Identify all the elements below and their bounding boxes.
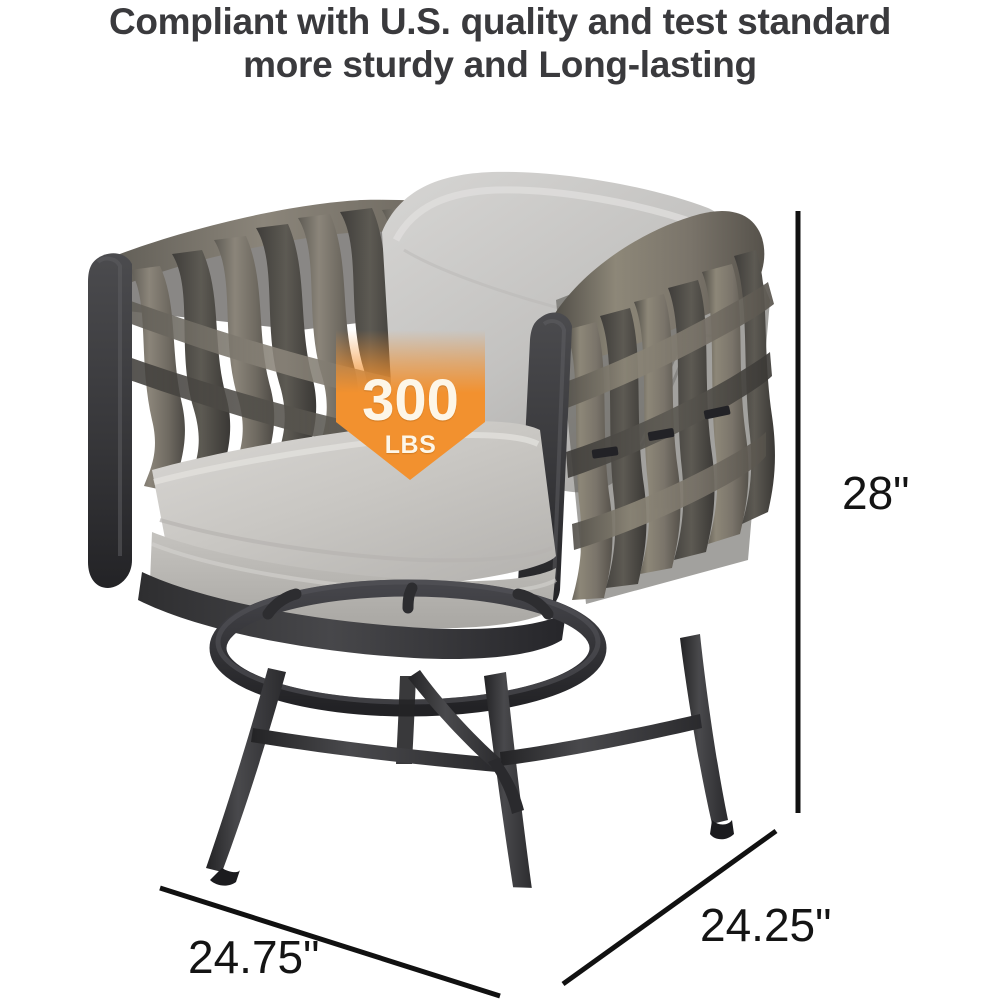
- height-dimension-label: 28": [842, 466, 910, 520]
- product-dimension-infographic: Compliant with U.S. quality and test sta…: [0, 0, 1000, 1000]
- leg-stretchers: [251, 670, 702, 814]
- left-arm-post: [88, 253, 132, 588]
- depth-dimension-label: 24.25": [700, 898, 831, 952]
- width-dimension-label: 24.75": [188, 930, 319, 984]
- chair-legs: [206, 634, 734, 925]
